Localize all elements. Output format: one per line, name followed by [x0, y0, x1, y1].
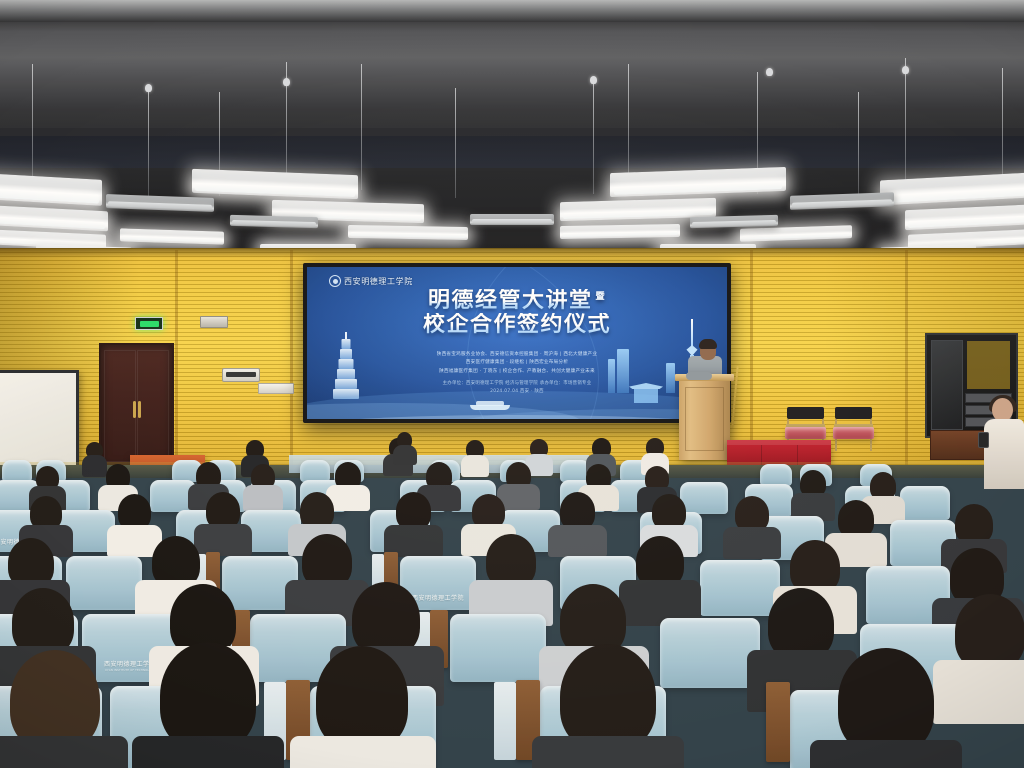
wall-panel-seam — [290, 250, 293, 478]
lecture-hall-photo: 西安明德理工学院 明德经管大讲堂暨 校企合作签约仪式 陕西省宝鸡服务业协会、西安… — [0, 0, 1024, 768]
smartphone[interactable] — [978, 432, 989, 448]
wall-speaker-icon — [200, 316, 228, 328]
desk-side-panel — [494, 682, 516, 760]
air-conditioner-unit — [222, 368, 260, 382]
ceiling-beam — [0, 128, 1024, 136]
speaker-hair — [699, 339, 717, 349]
emergency-exit-sign-icon — [135, 317, 163, 330]
wall-control-plate — [258, 383, 294, 394]
speaker-arm — [686, 372, 712, 380]
whiteboard — [0, 370, 79, 471]
screen-institution-logo: 西安明德理工学院 — [329, 275, 413, 287]
screen-subtitle-block: 陕西省宝鸡服务业协会、西安德信资本控股集团 · 周沪海 | 西北大健康产业 西安… — [307, 351, 727, 376]
screen-title-block: 明德经管大讲堂暨 校企合作签约仪式 — [307, 289, 727, 337]
seat-crest: 西安明德理工学院 — [412, 593, 464, 602]
auditorium-door[interactable] — [99, 343, 174, 469]
boat-graphic-icon — [470, 399, 510, 410]
screen-footer-line: 主办单位：西安明德理工学院 经济与管理学院 承办单位：市场营销专业 — [307, 380, 727, 388]
wall-panel-seam — [905, 250, 908, 478]
wall-panel-seam — [175, 250, 178, 478]
stage-chair[interactable] — [833, 407, 874, 451]
screen-title-suffix: 暨 — [596, 292, 607, 302]
ceiling-top-light-strip — [0, 0, 1024, 22]
screen-subtitle-line: 陕西福康医疗集团 · 丁晓东 | 校企合作、产教融合、共创大健康产业未来 — [307, 368, 727, 376]
auditorium-seat[interactable] — [660, 618, 760, 688]
institution-emblem-icon — [329, 275, 341, 287]
photographer — [984, 398, 1024, 488]
auditorium-seat[interactable] — [680, 482, 728, 514]
led-presentation-screen[interactable]: 西安明德理工学院 明德经管大讲堂暨 校企合作签约仪式 陕西省宝鸡服务业协会、西安… — [307, 267, 727, 419]
auditorium-seat[interactable] — [2, 460, 32, 482]
screen-title-line-2: 校企合作签约仪式 — [307, 313, 727, 336]
auditorium-seat[interactable] — [300, 460, 330, 482]
lectern — [679, 374, 730, 460]
auditorium-seat[interactable] — [900, 486, 950, 520]
screen-subtitle-line: 西安医疗健康集团 · 段继松 | 陕西宏业布局分析 — [307, 359, 727, 367]
screen-footer-block: 主办单位：西安明德理工学院 经济与管理学院 承办单位：市场营销专业 2024.0… — [307, 380, 727, 397]
auditorium-seat[interactable] — [66, 556, 142, 610]
auditorium-seat[interactable] — [700, 560, 780, 616]
institution-name-text: 西安明德理工学院 — [344, 276, 413, 287]
screen-footer-line: 2024.07.04 西安 · 陕西 — [307, 388, 727, 396]
screen-subtitle-line: 陕西省宝鸡服务业协会、西安德信资本控股集团 · 周沪海 | 西北大健康产业 — [307, 351, 727, 359]
auditorium-seat[interactable] — [450, 614, 546, 682]
screen-title-line-1: 明德经管大讲堂暨 — [307, 289, 727, 312]
auditorium-seat[interactable] — [760, 464, 792, 486]
folding-desk[interactable] — [766, 682, 790, 762]
